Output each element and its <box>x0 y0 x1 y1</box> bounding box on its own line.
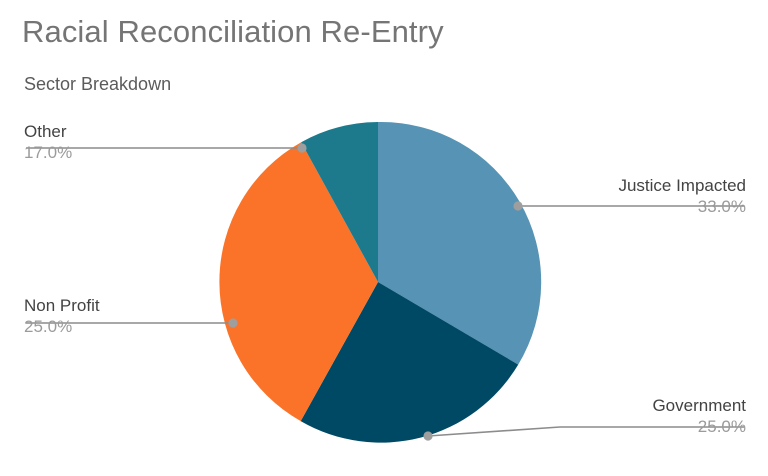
callout-justice-impacted: Justice Impacted 33.0% <box>556 176 746 217</box>
callout-government-value: 25.0% <box>560 416 746 437</box>
callout-other-label: Other <box>24 122 144 142</box>
callout-other-value: 17.0% <box>24 142 144 163</box>
callout-non-profit: Non Profit 25.0% <box>24 296 174 337</box>
callout-non-profit-label: Non Profit <box>24 296 174 316</box>
callout-government-label: Government <box>560 396 746 416</box>
callout-justice-impacted-value: 33.0% <box>556 196 746 217</box>
leader-dot-other <box>297 143 306 152</box>
leader-dot-justice-impacted <box>513 201 522 210</box>
callout-non-profit-value: 25.0% <box>24 316 174 337</box>
pie-chart-figure: Racial Reconciliation Re-Entry Sector Br… <box>0 0 768 476</box>
callout-government: Government 25.0% <box>560 396 746 437</box>
leader-dot-non-profit <box>228 318 237 327</box>
callout-justice-impacted-label: Justice Impacted <box>556 176 746 196</box>
leader-dot-government <box>423 431 432 440</box>
callout-other: Other 17.0% <box>24 122 144 163</box>
